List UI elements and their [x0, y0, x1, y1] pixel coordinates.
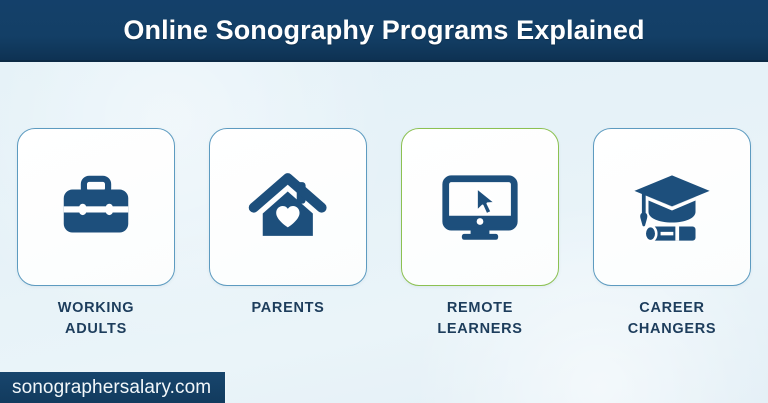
card-remote-learners[interactable] [401, 128, 559, 286]
label-line: CHANGERS [593, 319, 751, 340]
label-line: REMOTE [401, 298, 559, 319]
infographic-canvas: Online Sonography Programs Explained [0, 0, 768, 403]
label-line: PARENTS [209, 298, 367, 319]
label-line: ADULTS [17, 319, 175, 340]
label-line: CAREER [593, 298, 751, 319]
label-parents: PARENTS [209, 298, 367, 319]
label-remote-learners: REMOTE LEARNERS [401, 298, 559, 339]
label-line: WORKING [17, 298, 175, 319]
watermark-text: sonographersalary.com [12, 378, 211, 397]
label-line: LEARNERS [401, 319, 559, 340]
audience-label-row: WORKING ADULTS PARENTS REMOTE LEARNERS C… [0, 298, 768, 339]
card-working-adults[interactable] [17, 128, 175, 286]
graduation-cap-diploma-icon [629, 164, 715, 250]
card-parents[interactable] [209, 128, 367, 286]
label-career-changers: CAREER CHANGERS [593, 298, 751, 339]
audience-card-row [0, 128, 768, 286]
monitor-cursor-icon [437, 164, 523, 250]
label-working-adults: WORKING ADULTS [17, 298, 175, 339]
page-title: Online Sonography Programs Explained [123, 17, 644, 44]
house-heart-icon [245, 164, 331, 250]
card-career-changers[interactable] [593, 128, 751, 286]
briefcase-icon [53, 164, 139, 250]
watermark-badge: sonographersalary.com [0, 372, 225, 403]
header-bar: Online Sonography Programs Explained [0, 0, 768, 62]
